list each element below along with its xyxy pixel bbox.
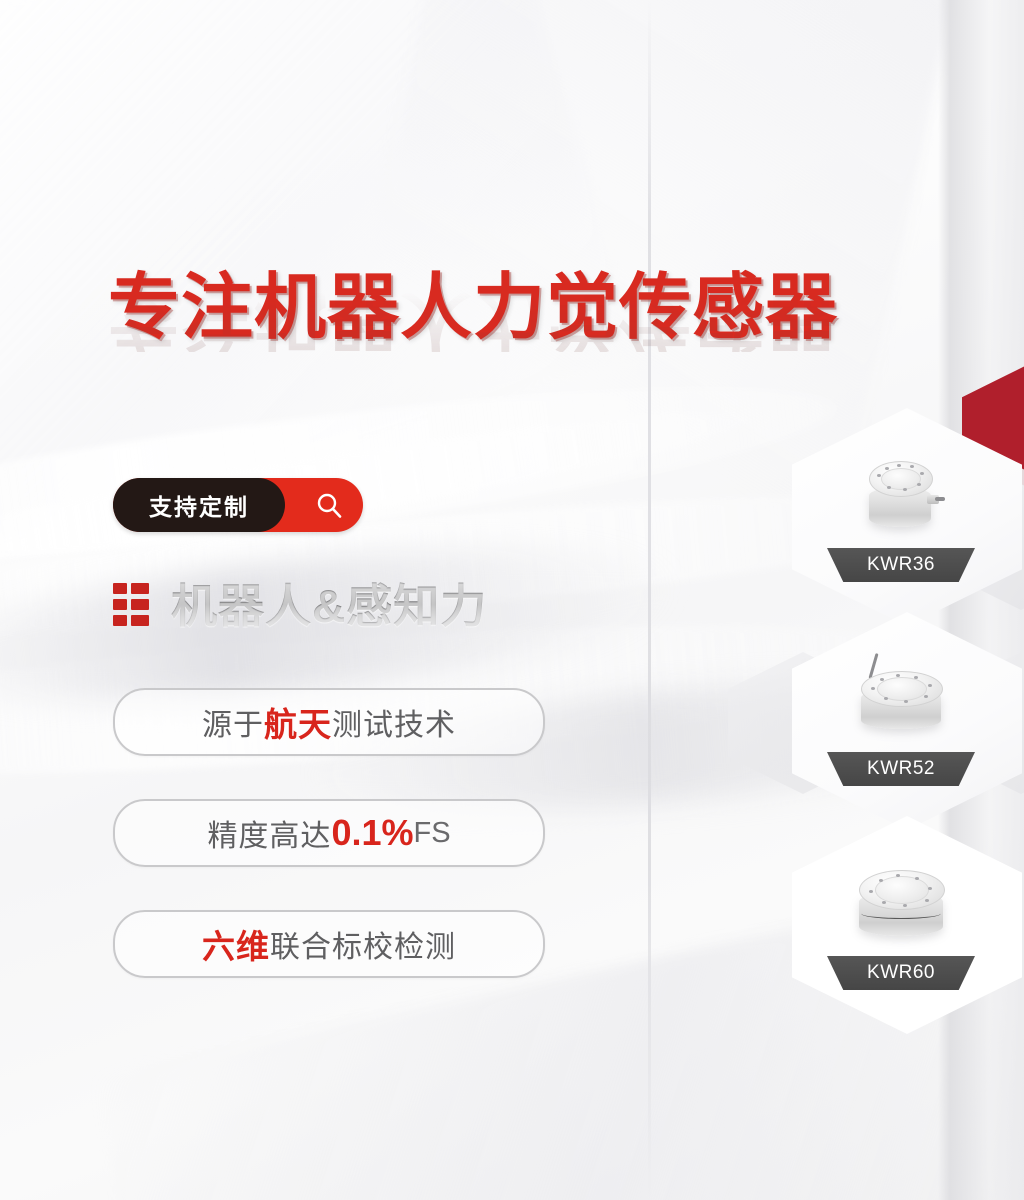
search-icon[interactable] (315, 491, 343, 519)
grid-block (131, 583, 149, 594)
force-sensor-cylinder-icon (865, 461, 937, 527)
headline-block: 专注机器人力觉传感器 专注机器人力觉传感器 (108, 272, 908, 432)
product-name: KWR52 (867, 758, 935, 780)
headline-reflection: 专注机器人力觉传感器 (108, 286, 838, 352)
feature-post: 联合标校检测 (270, 922, 456, 966)
feature-post: 测试技术 (332, 700, 456, 744)
feature-pre: 精度高达 (207, 811, 331, 855)
force-sensor-disc-icon (855, 868, 947, 936)
grid-block (113, 615, 127, 626)
force-sensor-disc-cable-icon (858, 667, 944, 729)
product-label-kwr52: KWR52 (827, 752, 975, 786)
product-item-kwr52[interactable]: KWR52 (814, 644, 988, 786)
feature-number: 0.1% (331, 812, 413, 854)
grid-block (131, 599, 149, 610)
feature-highlight: 航天 (264, 698, 332, 746)
product-label-kwr60: KWR60 (827, 956, 975, 990)
grid-block (113, 599, 127, 610)
grid-block (113, 583, 127, 594)
subtitle-text: 机器人&感知力 (171, 570, 487, 636)
customization-badge-label: 支持定制 (149, 488, 249, 522)
grid-blocks-icon (113, 583, 149, 626)
feature-post: FS (414, 817, 451, 850)
product-name: KWR36 (867, 554, 935, 576)
product-hex-column: KWR36 (790, 380, 1024, 1020)
product-item-kwr60[interactable]: KWR60 (814, 848, 988, 990)
subtitle-row: 机器人&感知力 (113, 570, 487, 636)
customization-badge[interactable]: 支持定制 (113, 478, 363, 532)
customization-badge-label-pill: 支持定制 (113, 478, 285, 532)
product-banner: KWR36 (0, 0, 1024, 1200)
product-image-kwr52 (814, 644, 988, 752)
feature-pill-accuracy[interactable]: 精度高达0.1%FS (113, 799, 545, 867)
feature-pre: 源于 (202, 700, 264, 744)
product-label-kwr36: KWR36 (827, 548, 975, 582)
product-image-kwr60 (814, 848, 988, 956)
product-item-kwr36[interactable]: KWR36 (814, 440, 988, 582)
feature-pill-six-axis[interactable]: 六维联合标校检测 (113, 910, 545, 978)
product-name: KWR60 (867, 962, 935, 984)
feature-highlight: 六维 (202, 920, 270, 968)
background-vertical-seam (648, 0, 651, 1200)
feature-pill-aerospace[interactable]: 源于航天测试技术 (113, 688, 545, 756)
grid-block (131, 615, 149, 626)
product-image-kwr36 (814, 440, 988, 548)
